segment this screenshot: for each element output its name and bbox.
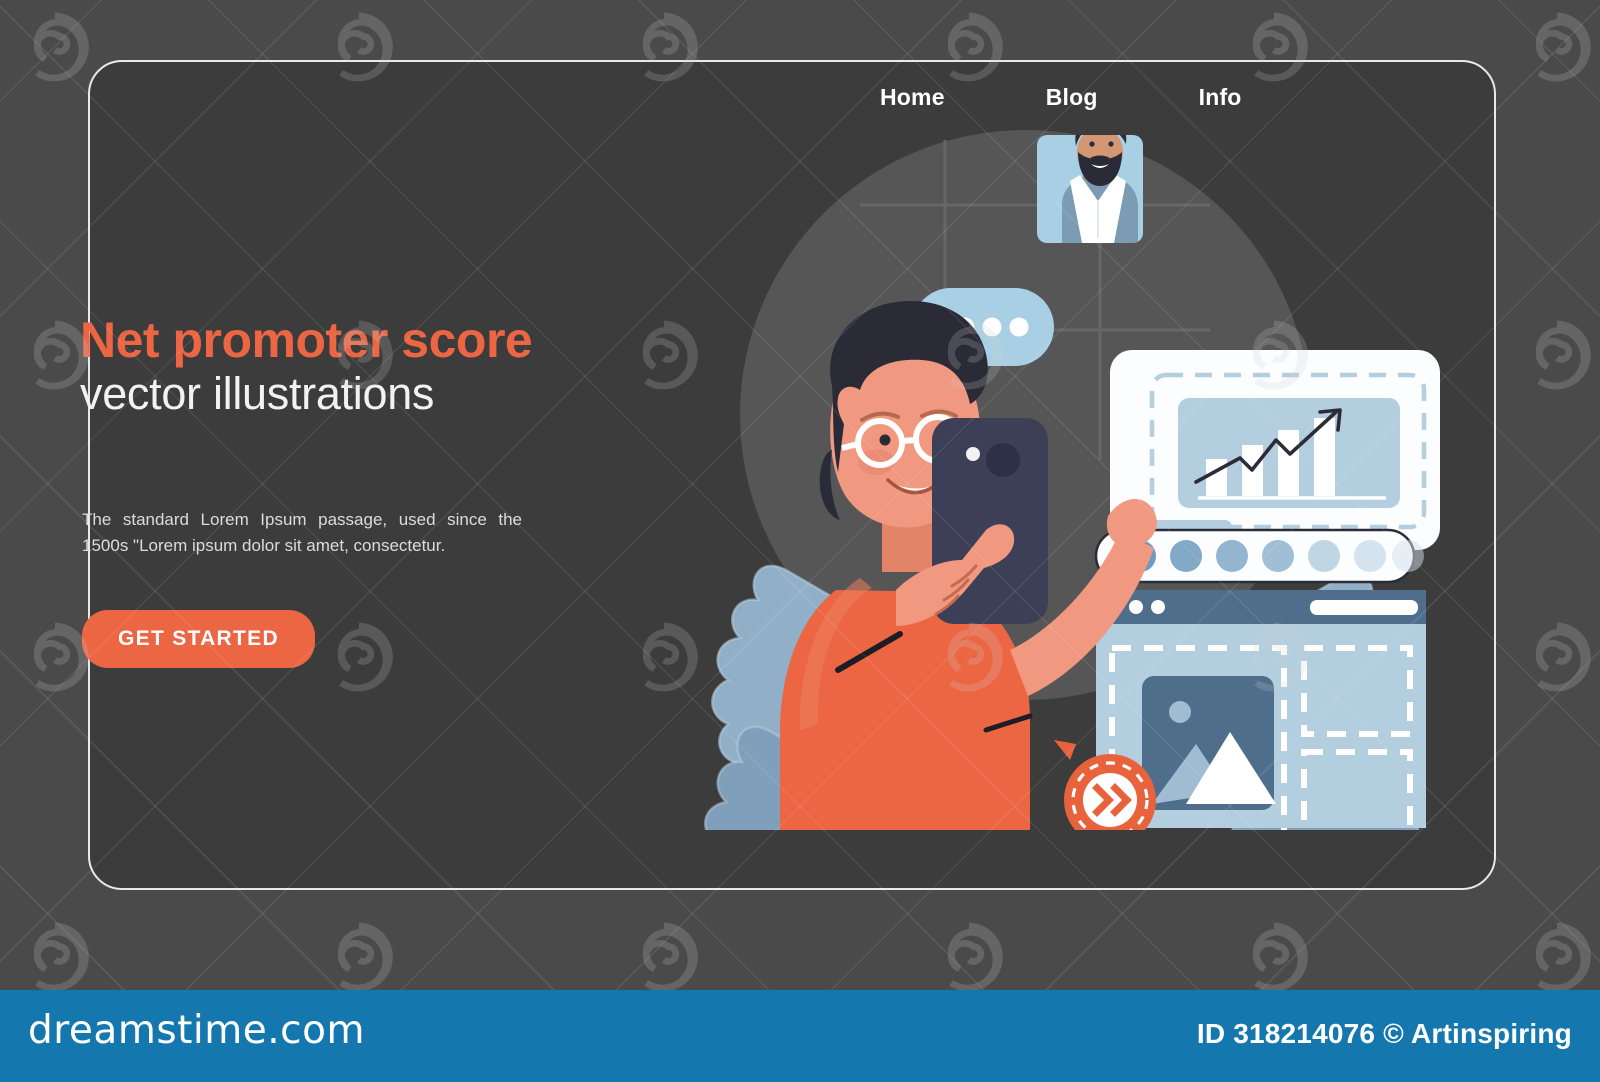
main-navigation: Home Blog Info	[880, 84, 1242, 111]
chart-dashboard-panel	[1110, 350, 1440, 556]
hero-illustration	[600, 30, 1460, 830]
hero-copy-block: Net promoter score vector illustrations …	[80, 315, 640, 668]
page-title: Net promoter score	[80, 315, 640, 365]
page-canvas: Home Blog Info Net promoter score vector…	[0, 0, 1600, 990]
image-credit: ID 318214076 © Artinspiring	[1197, 1018, 1572, 1050]
nav-item-blog[interactable]: Blog	[1046, 84, 1098, 111]
page-subtitle: vector illustrations	[80, 369, 640, 419]
dreamstime-logo-text: dreamstime.com	[28, 1008, 365, 1053]
image-placeholder-icon	[1142, 676, 1276, 810]
stock-footer-bar: dreamstime.com ID 318214076 © Artinspiri…	[0, 990, 1600, 1082]
hero-body-text: The standard Lorem Ipsum passage, used s…	[82, 507, 522, 558]
nav-item-home[interactable]: Home	[880, 84, 945, 111]
get-started-button[interactable]: GET STARTED	[82, 610, 315, 668]
dreamstime-logo: dreamstime.com	[28, 1008, 365, 1053]
nav-item-info[interactable]: Info	[1199, 84, 1242, 111]
